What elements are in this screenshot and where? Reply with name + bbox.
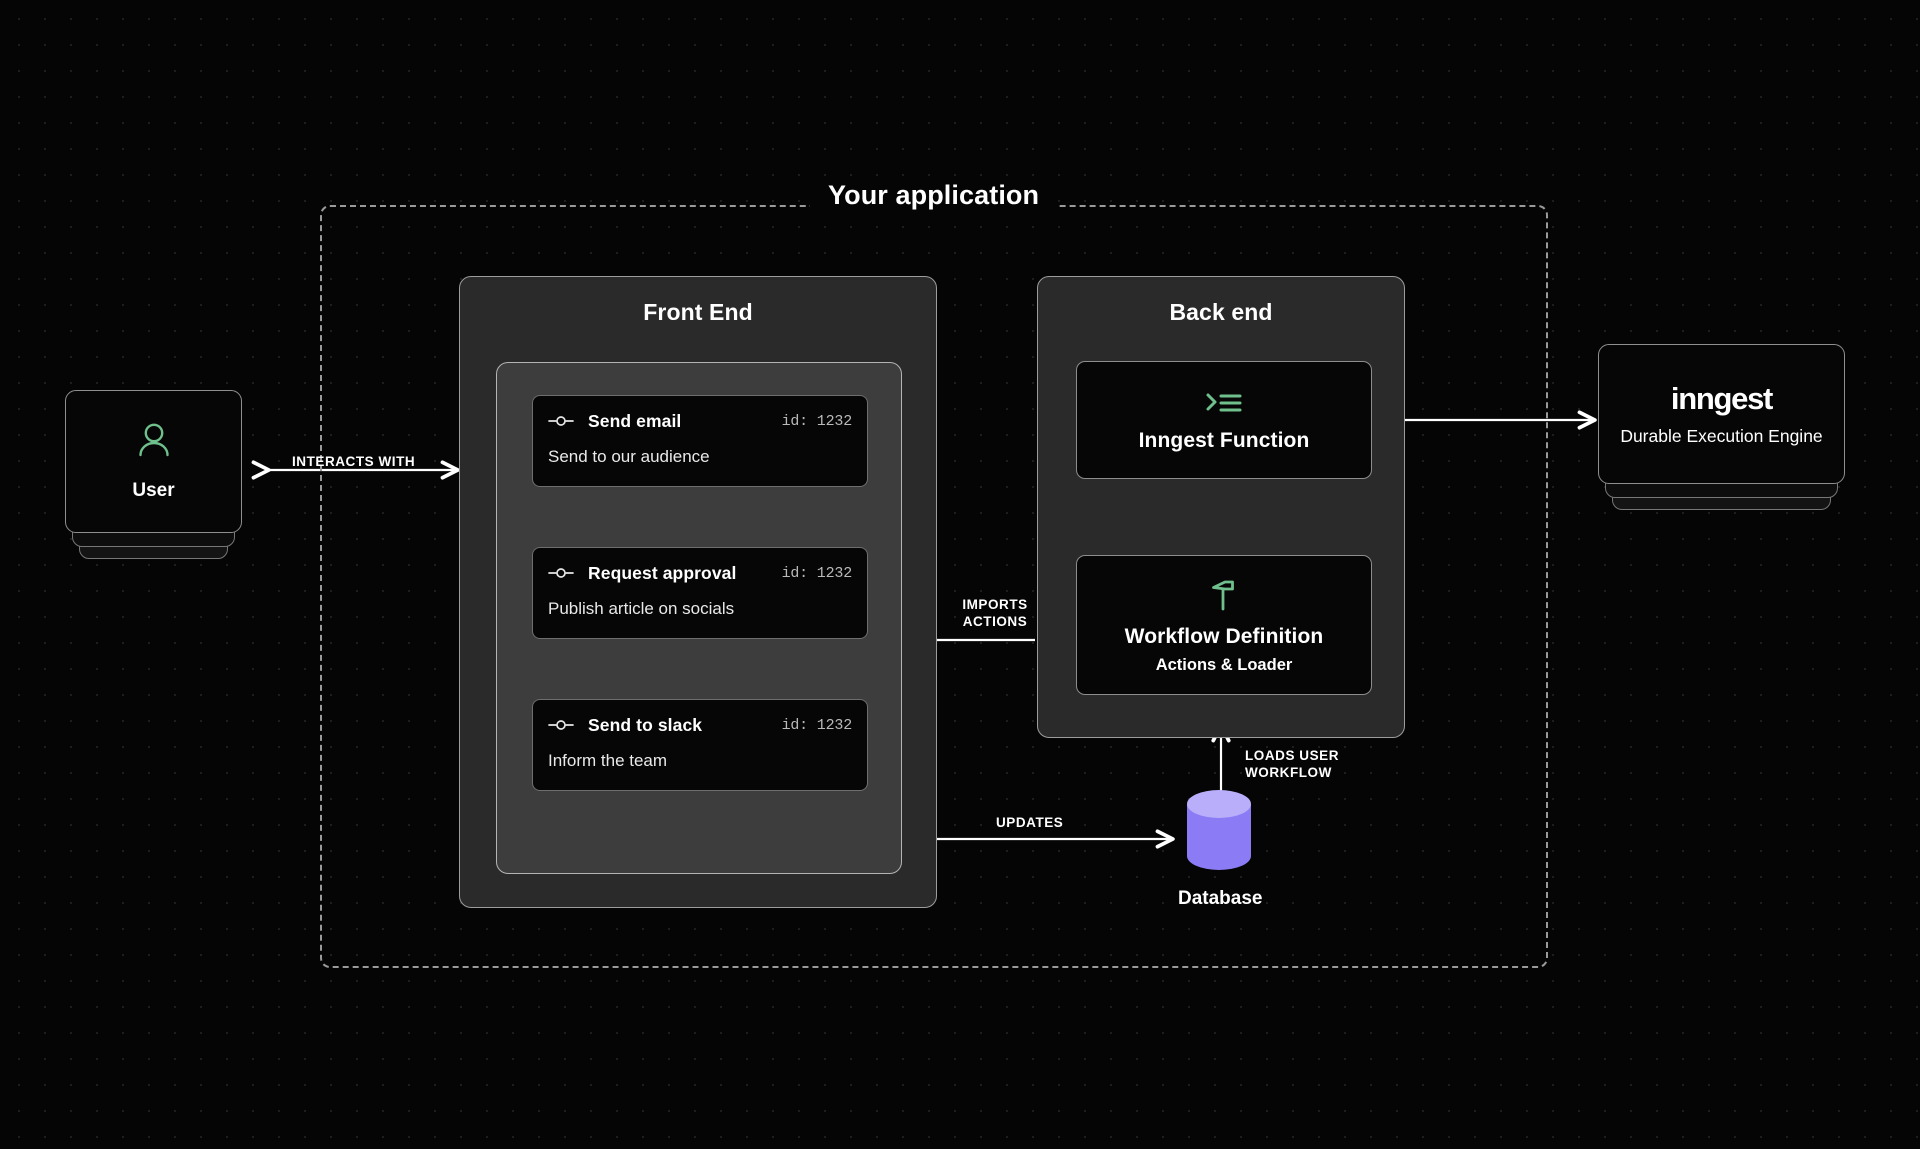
inngest-logo: inngest xyxy=(1671,381,1772,417)
inngest-subtitle: Durable Execution Engine xyxy=(1620,426,1822,448)
workflow-node-icon xyxy=(548,414,574,428)
workflow-definition-title: Workflow Definition xyxy=(1125,625,1324,649)
workflow-editor-surface: Send email id: 1232 Send to our audience… xyxy=(496,362,902,874)
workflow-definition-card[interactable]: Workflow Definition Actions & Loader xyxy=(1076,555,1372,695)
workflow-step-card[interactable]: Send to slack id: 1232 Inform the team xyxy=(532,699,868,791)
edge-label-imports-actions: IMPORTS ACTIONS xyxy=(947,597,1043,631)
inngest-function-title: Inngest Function xyxy=(1139,429,1310,453)
inngest-node-face: inngest Durable Execution Engine xyxy=(1598,344,1845,484)
workflow-node-icon xyxy=(548,566,574,580)
workflow-step-id: id: 1232 xyxy=(782,565,852,582)
edge-label-loads-user-workflow: LOADS USER WORKFLOW xyxy=(1245,748,1339,782)
workflow-step-id: id: 1232 xyxy=(782,413,852,430)
workflow-step-description: Send to our audience xyxy=(548,447,852,467)
workflow-step-card[interactable]: Send email id: 1232 Send to our audience xyxy=(532,395,868,487)
edge-label-updates: UPDATES xyxy=(996,815,1063,832)
workflow-node-icon xyxy=(548,718,574,732)
backend-title: Back end xyxy=(1038,299,1404,326)
workflow-step-id: id: 1232 xyxy=(782,717,852,734)
workflow-step-name: Send email xyxy=(588,411,681,432)
workflow-step-name: Request approval xyxy=(588,563,736,584)
user-icon xyxy=(136,421,172,466)
database-cylinder-icon xyxy=(1183,790,1255,872)
workflow-step-card[interactable]: Request approval id: 1232 Publish articl… xyxy=(532,547,868,639)
frontend-panel: Front End Send email id: 1232 Send to ou… xyxy=(459,276,937,908)
frontend-title: Front End xyxy=(460,299,936,326)
user-node-label: User xyxy=(132,480,174,502)
workflow-step-description: Inform the team xyxy=(548,751,852,771)
inngest-function-card[interactable]: Inngest Function xyxy=(1076,361,1372,479)
database-node[interactable]: Database xyxy=(1178,790,1260,910)
edge-label-interacts-with: INTERACTS WITH xyxy=(292,454,415,471)
inngest-node[interactable]: inngest Durable Execution Engine xyxy=(1598,344,1845,484)
hammer-icon xyxy=(1206,575,1242,613)
user-node[interactable]: User xyxy=(65,390,242,533)
workflow-step-description: Publish article on socials xyxy=(548,599,852,619)
database-label: Database xyxy=(1178,888,1260,910)
backend-panel: Back end Inngest Function Workflow Defin… xyxy=(1037,276,1405,738)
page-title: Your application xyxy=(810,180,1057,211)
terminal-icon xyxy=(1204,387,1244,417)
workflow-definition-subtitle: Actions & Loader xyxy=(1156,656,1293,675)
user-node-face: User xyxy=(65,390,242,533)
workflow-step-name: Send to slack xyxy=(588,715,702,736)
